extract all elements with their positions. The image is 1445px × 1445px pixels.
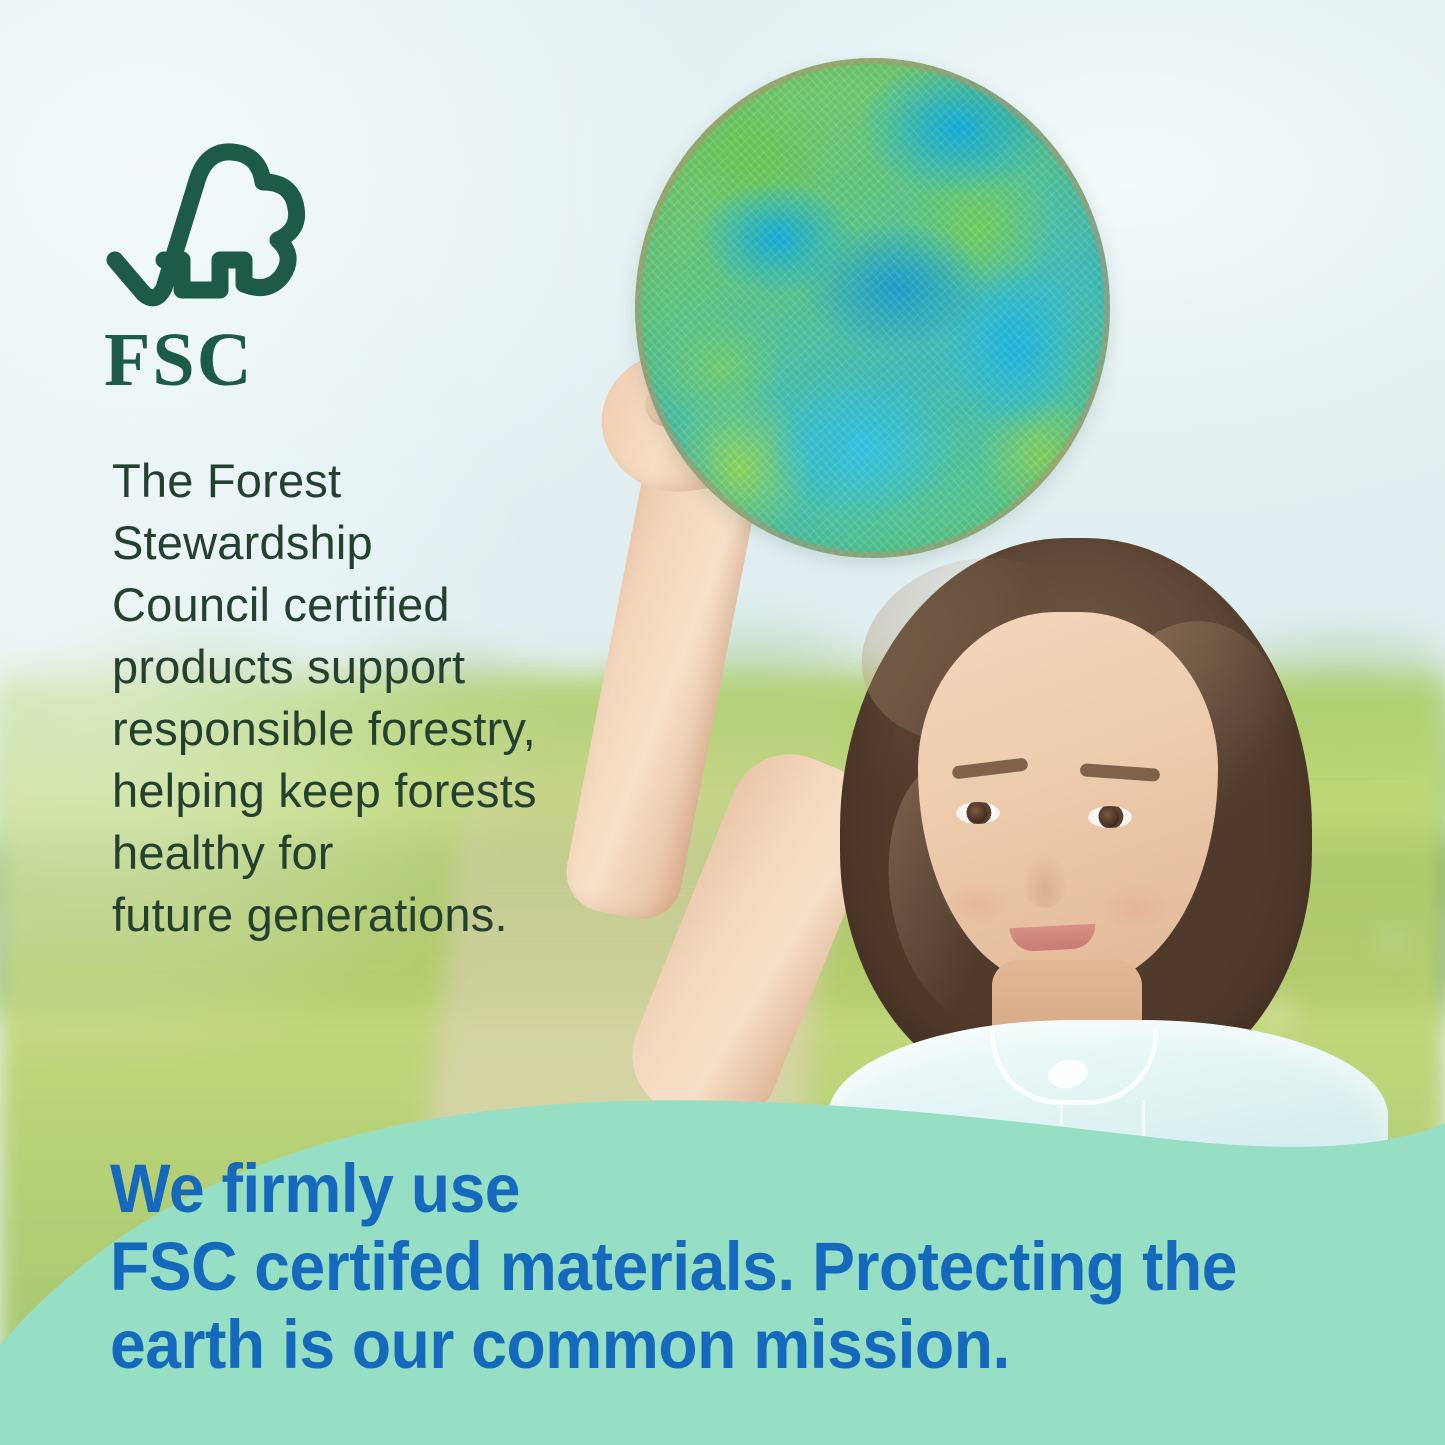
eye-right xyxy=(1088,806,1132,828)
eye-left xyxy=(956,802,1000,824)
fsc-wordmark: FSC xyxy=(104,322,334,398)
globe-cardboard-rim xyxy=(635,58,1110,558)
cheek-right xyxy=(1100,884,1170,930)
cheek-left xyxy=(942,880,1012,926)
fsc-description-paragraph: The Forest Stewardship Council certified… xyxy=(112,450,632,946)
cardboard-earth-globe xyxy=(635,58,1110,558)
nose xyxy=(1022,850,1068,908)
fsc-logo: FSC xyxy=(104,138,334,388)
fsc-checkmark-tree-icon xyxy=(104,138,322,318)
fsc-sustainability-poster: FSC The Forest Stewardship Council certi… xyxy=(0,0,1445,1445)
headline: We firmly use FSC certifed materials. Pr… xyxy=(110,1150,1282,1384)
